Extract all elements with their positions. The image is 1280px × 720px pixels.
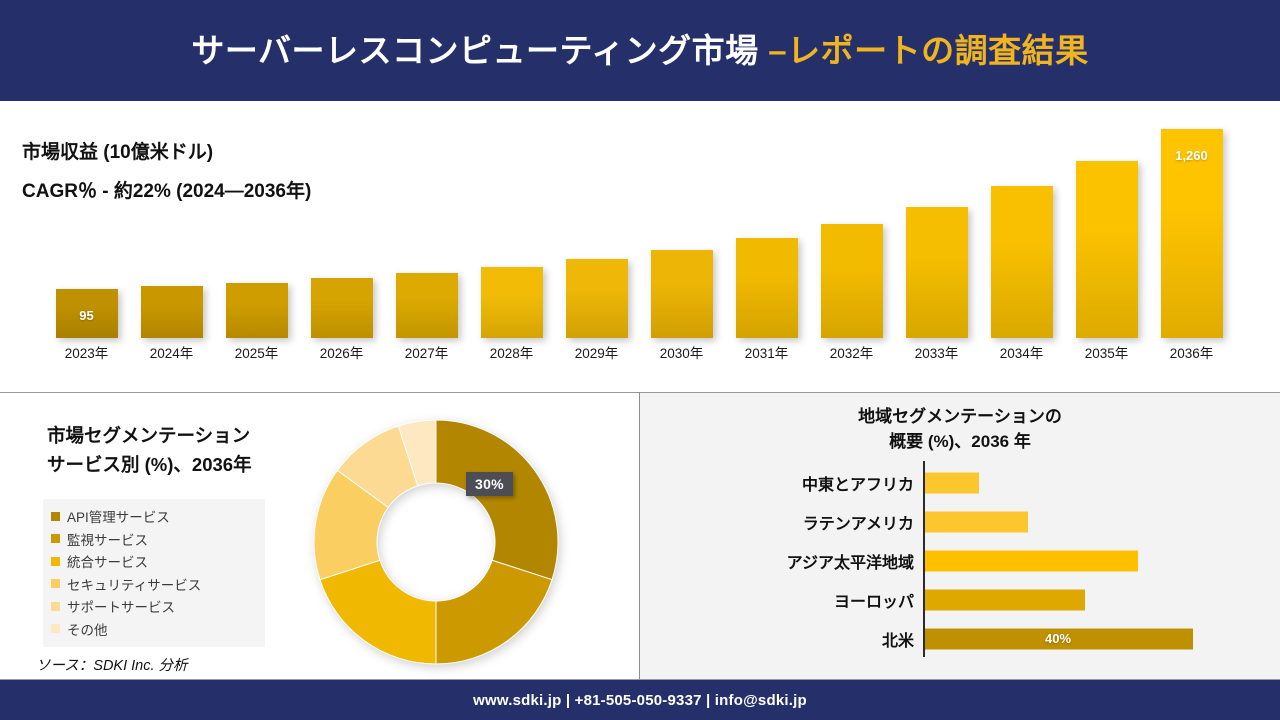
regional-bar-chart: 中東とアフリカラテンアメリカアジア太平洋地域ヨーロッパ北米40% xyxy=(640,461,1280,661)
regional-label: 北米 xyxy=(882,627,914,651)
revenue-bar-slot xyxy=(639,121,724,338)
revenue-bar-value: 95 xyxy=(56,308,118,323)
segmentation-donut-chart: 30% xyxy=(311,417,561,667)
revenue-bar xyxy=(821,224,883,338)
revenue-bar xyxy=(311,278,373,338)
revenue-section: 市場収益 (10億米ドル) CAGR％ - 約22% (2024―2036年) … xyxy=(0,101,1280,392)
revenue-bar xyxy=(396,273,458,338)
revenue-bar xyxy=(141,286,203,338)
revenue-x-label: 2029年 xyxy=(554,342,639,362)
legend-swatch-icon xyxy=(51,512,60,521)
page-title-accent: –レポートの調査結果 xyxy=(768,32,1088,69)
revenue-x-axis-labels: 2023年2024年2025年2026年2027年2028年2029年2030年… xyxy=(44,342,1234,366)
donut-slice xyxy=(436,420,558,580)
regional-label: ラテンアメリカ xyxy=(803,510,914,534)
legend-item: サポートサービス xyxy=(51,595,257,618)
segmentation-panel: 市場セグメンテーション サービス別 (%)、2036年 API管理サービス監視サ… xyxy=(0,393,639,679)
legend-label: API管理サービス xyxy=(67,506,170,526)
segmentation-title: 市場セグメンテーション サービス別 (%)、2036年 xyxy=(47,422,337,479)
donut-highlight-badge: 30% xyxy=(466,472,513,496)
revenue-x-label: 2023年 xyxy=(44,342,129,362)
revenue-bar xyxy=(226,283,288,338)
revenue-x-label: 2028年 xyxy=(469,342,554,362)
revenue-bar-slot xyxy=(1064,121,1149,338)
revenue-bar xyxy=(906,207,968,338)
revenue-bar xyxy=(566,259,628,338)
legend-swatch-icon xyxy=(51,579,60,588)
revenue-bar xyxy=(481,267,543,338)
revenue-x-label: 2031年 xyxy=(724,342,809,362)
infographic-page: サーバーレスコンピューティング市場 –レポートの調査結果 市場収益 (10億米ド… xyxy=(0,0,1280,720)
regional-row: ラテンアメリカ xyxy=(640,502,1280,541)
revenue-x-label: 2030年 xyxy=(639,342,724,362)
legend-swatch-icon xyxy=(51,557,60,566)
legend-item: セキュリティサービス xyxy=(51,573,257,596)
revenue-x-label: 2025年 xyxy=(214,342,299,362)
legend-swatch-icon xyxy=(51,624,60,633)
revenue-bar-value: 1,260 xyxy=(1161,148,1223,163)
segmentation-title-line2: サービス別 (%)、2036年 xyxy=(47,451,337,480)
regional-bar xyxy=(925,550,1138,571)
revenue-bar-slot xyxy=(384,121,469,338)
revenue-bar-slot xyxy=(214,121,299,338)
revenue-bar-chart: 951,260 2023年2024年2025年2026年2027年2028年20… xyxy=(44,121,1234,361)
revenue-bar-slot xyxy=(554,121,639,338)
revenue-bar xyxy=(1076,161,1138,338)
source-note: ソース：SDKI Inc. 分析 xyxy=(36,654,188,675)
revenue-bar xyxy=(651,250,713,338)
revenue-bar-slot xyxy=(894,121,979,338)
legend-item: 監視サービス xyxy=(51,528,257,551)
regional-label: アジア太平洋地域 xyxy=(787,549,914,573)
regional-row: 中東とアフリカ xyxy=(640,463,1280,502)
donut-slice xyxy=(436,560,552,664)
revenue-bar-slot xyxy=(724,121,809,338)
regional-title-line1: 地域セグメンテーションの xyxy=(640,405,1280,430)
page-title: サーバーレスコンピューティング市場 –レポートの調査結果 xyxy=(191,34,1088,67)
revenue-x-label: 2033年 xyxy=(894,342,979,362)
revenue-x-label: 2035年 xyxy=(1064,342,1149,362)
revenue-x-label: 2032年 xyxy=(809,342,894,362)
revenue-x-label: 2026年 xyxy=(299,342,384,362)
legend-swatch-icon xyxy=(51,602,60,611)
revenue-bar-slot: 1,260 xyxy=(1149,121,1234,338)
legend-label: 統合サービス xyxy=(67,551,148,571)
revenue-bar-slot xyxy=(129,121,214,338)
donut-slice xyxy=(320,560,436,664)
regional-row: ヨーロッパ xyxy=(640,580,1280,619)
legend-item: API管理サービス xyxy=(51,505,257,528)
regional-bar xyxy=(925,589,1085,610)
regional-label: 中東とアフリカ xyxy=(802,471,914,495)
revenue-bar-slot xyxy=(469,121,554,338)
donut-svg xyxy=(311,417,561,667)
legend-item: その他 xyxy=(51,618,257,641)
revenue-x-label: 2024年 xyxy=(129,342,214,362)
regional-label: ヨーロッパ xyxy=(834,588,914,612)
revenue-bar-slot xyxy=(299,121,384,338)
regional-title: 地域セグメンテーションの 概要 (%)、2036 年 xyxy=(640,405,1280,454)
revenue-bar-slot xyxy=(979,121,1064,338)
revenue-bar-area: 951,260 xyxy=(44,121,1234,338)
revenue-x-label: 2034年 xyxy=(979,342,1064,362)
revenue-x-label: 2036年 xyxy=(1149,342,1234,362)
revenue-x-label: 2027年 xyxy=(384,342,469,362)
regional-row: アジア太平洋地域 xyxy=(640,541,1280,580)
revenue-bar xyxy=(736,238,798,338)
regional-bar: 40% xyxy=(925,628,1193,649)
regional-bar-value: 40% xyxy=(1045,631,1071,646)
legend-label: 監視サービス xyxy=(67,529,148,549)
segmentation-legend: API管理サービス監視サービス統合サービスセキュリティサービスサポートサービスそ… xyxy=(43,499,265,647)
regional-row: 北米40% xyxy=(640,619,1280,658)
page-title-main: サーバーレスコンピューティング市場 xyxy=(191,32,768,69)
revenue-bar xyxy=(991,186,1053,338)
footer-contact: www.sdki.jp | +81-505-050-9337 | info@sd… xyxy=(473,692,807,709)
legend-label: サポートサービス xyxy=(67,596,175,616)
page-header: サーバーレスコンピューティング市場 –レポートの調査結果 xyxy=(0,0,1280,101)
legend-label: その他 xyxy=(67,619,108,639)
regional-bar xyxy=(925,472,979,493)
segmentation-title-line1: 市場セグメンテーション xyxy=(47,422,337,451)
regional-panel: 地域セグメンテーションの 概要 (%)、2036 年 中東とアフリカラテンアメリ… xyxy=(640,393,1280,679)
legend-label: セキュリティサービス xyxy=(67,574,201,594)
regional-bar xyxy=(925,511,1028,532)
legend-item: 統合サービス xyxy=(51,550,257,573)
page-footer: www.sdki.jp | +81-505-050-9337 | info@sd… xyxy=(0,680,1280,720)
legend-swatch-icon xyxy=(51,534,60,543)
revenue-bar-slot xyxy=(809,121,894,338)
revenue-bar-slot: 95 xyxy=(44,121,129,338)
regional-title-line2: 概要 (%)、2036 年 xyxy=(640,430,1280,455)
